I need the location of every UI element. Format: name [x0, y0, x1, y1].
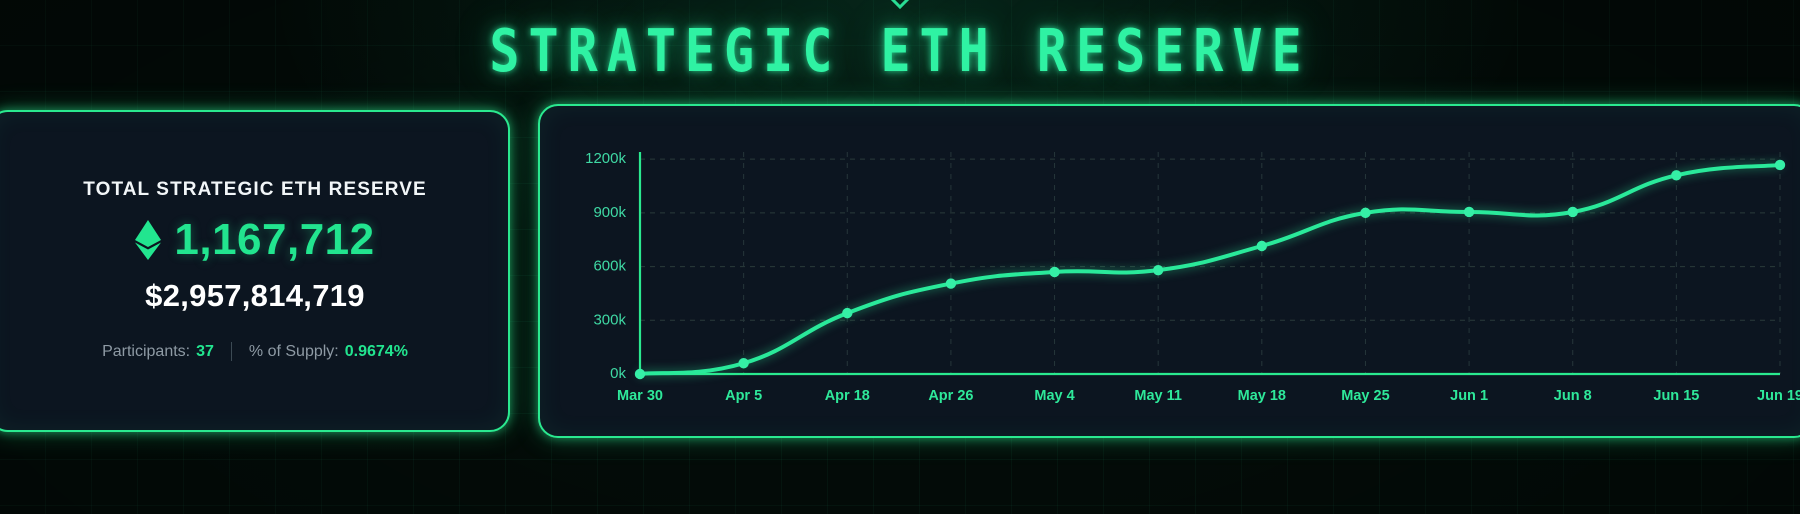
supply-value: 0.9674%	[345, 343, 408, 361]
total-reserve-card: TOTAL STRATEGIC ETH RESERVE 1,167,712 $2…	[0, 110, 510, 432]
x-tick-label: Apr 18	[825, 388, 870, 404]
x-tick-label: Jun 19	[1757, 388, 1800, 404]
y-axis-tick-labels: 0k300k600k900k1200k	[585, 150, 626, 382]
x-tick-label: May 18	[1238, 388, 1286, 404]
x-tick-label: Jun 1	[1450, 388, 1488, 404]
series-point	[842, 308, 852, 318]
reserve-series-line	[640, 165, 1780, 374]
series-point	[1775, 160, 1785, 170]
stats-meta-row: Participants: 37 % of Supply: 0.9674%	[102, 342, 408, 361]
ethereum-diamond-icon	[135, 220, 161, 260]
supply-label: % of Supply:	[249, 343, 339, 361]
supply-stat: % of Supply: 0.9674%	[249, 343, 408, 361]
series-point	[1257, 241, 1267, 251]
participants-label: Participants:	[102, 343, 190, 361]
y-tick-label: 600k	[593, 258, 626, 275]
x-tick-label: Mar 30	[617, 388, 663, 404]
series-point	[1568, 207, 1578, 217]
series-point	[946, 278, 956, 288]
series-point	[738, 358, 748, 368]
series-point	[1464, 207, 1474, 217]
participants-stat: Participants: 37	[102, 343, 214, 361]
x-tick-label: Jun 15	[1653, 388, 1699, 404]
y-tick-label: 1200k	[585, 150, 626, 167]
x-tick-label: Apr 26	[928, 388, 973, 404]
y-tick-label: 300k	[593, 311, 626, 328]
reserve-growth-chart[interactable]: 0k300k600k900k1200k Mar 30Apr 5Apr 18Apr…	[540, 106, 1800, 436]
reserve-series-points	[635, 160, 1785, 379]
x-tick-label: Apr 5	[725, 388, 762, 404]
y-tick-label: 0k	[610, 365, 626, 382]
eth-amount-row: 1,167,712	[135, 215, 374, 265]
x-tick-label: May 11	[1134, 388, 1182, 404]
x-axis-tick-labels: Mar 30Apr 5Apr 18Apr 26May 4May 11May 18…	[617, 388, 1800, 404]
reserve-growth-chart-panel: 0k300k600k900k1200k Mar 30Apr 5Apr 18Apr…	[538, 104, 1800, 438]
series-point	[1671, 170, 1681, 180]
series-point	[1360, 208, 1370, 218]
horizontal-gridlines	[640, 159, 1780, 374]
chart-axes	[640, 152, 1780, 374]
series-point	[1153, 265, 1163, 275]
usd-value: $2,957,814,719	[145, 278, 365, 314]
vertical-gridlines	[744, 152, 1780, 374]
series-point	[635, 369, 645, 379]
eth-amount-value: 1,167,712	[174, 215, 374, 265]
series-point	[1049, 267, 1059, 277]
y-tick-label: 900k	[593, 204, 626, 221]
total-reserve-label: TOTAL STRATEGIC ETH RESERVE	[83, 179, 427, 201]
x-tick-label: May 25	[1341, 388, 1389, 404]
participants-value: 37	[196, 343, 214, 361]
page-title: STRATEGIC ETH RESERVE	[489, 17, 1310, 85]
meta-divider	[231, 342, 232, 361]
x-tick-label: Jun 8	[1554, 388, 1592, 404]
page-header: STRATEGIC ETH RESERVE	[0, 0, 1800, 96]
chevron-down-icon	[887, 0, 913, 10]
x-tick-label: May 4	[1034, 388, 1074, 404]
